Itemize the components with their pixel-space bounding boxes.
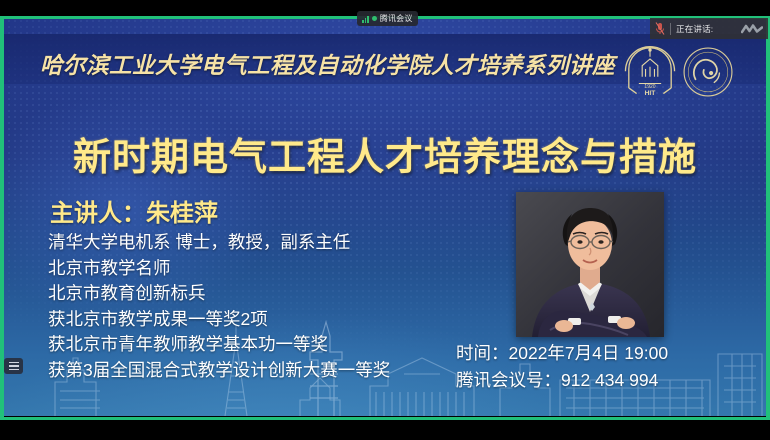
meeting-id: 腾讯会议号：912 434 994 [456,367,766,394]
svg-text:1920: 1920 [644,84,655,90]
tencent-meeting-label: 腾讯会议 [380,13,413,24]
list-item: 获北京市教学成果一等奖2项 [48,307,478,333]
svg-text:HIT: HIT [645,90,657,97]
list-item: 清华大学电机系 博士，教授，副系主任 [48,230,478,256]
list-item: 获北京市青年教师教学基本功一等奖 [48,332,478,358]
speaker-name-line: 主讲人：朱桂萍 [50,193,218,228]
meeting-time: 时间：2022年7月4日 19:00 [456,340,766,367]
presentation-slide: 哈尔滨工业大学电气工程及自动化学院人才培养系列讲座 1920 HIT [0,18,770,416]
list-item: 北京市教育创新标兵 [48,281,478,307]
divider [670,23,671,35]
list-line [9,369,19,371]
lecture-series-banner-title: 哈尔滨工业大学电气工程及自动化学院人才培养系列讲座 [40,48,640,80]
list-line [9,365,19,367]
audio-waveform-icon [741,23,763,34]
signal-bars-icon [362,15,369,23]
online-dot-icon [372,16,377,21]
slide-main-title: 新时期电气工程人才培养理念与措施 [0,126,770,181]
list-panel-icon[interactable] [4,358,23,374]
electrical-engineering-emblem-icon [682,46,734,98]
speaking-label: 正在讲话: [676,23,713,35]
list-item: 获第3届全国混合式教学设计创新大赛一等奖 [48,358,478,384]
screen-share-viewport: 哈尔滨工业大学电气工程及自动化学院人才培养系列讲座 1920 HIT [0,0,770,440]
speaker-portrait-photo [516,192,664,337]
list-item: 北京市教学名师 [48,256,478,282]
tencent-meeting-status-pill[interactable]: 腾讯会议 [357,11,418,26]
meeting-details: 时间：2022年7月4日 19:00 腾讯会议号：912 434 994 [456,340,766,394]
speaker-bio-list: 清华大学电机系 博士，教授，副系主任 北京市教学名师 北京市教育创新标兵 获北京… [48,230,478,383]
speaking-indicator-bar[interactable]: 正在讲话: [650,18,768,39]
hit-university-emblem-icon: 1920 HIT [622,40,678,98]
list-line [9,362,19,364]
microphone-muted-icon [655,22,665,35]
